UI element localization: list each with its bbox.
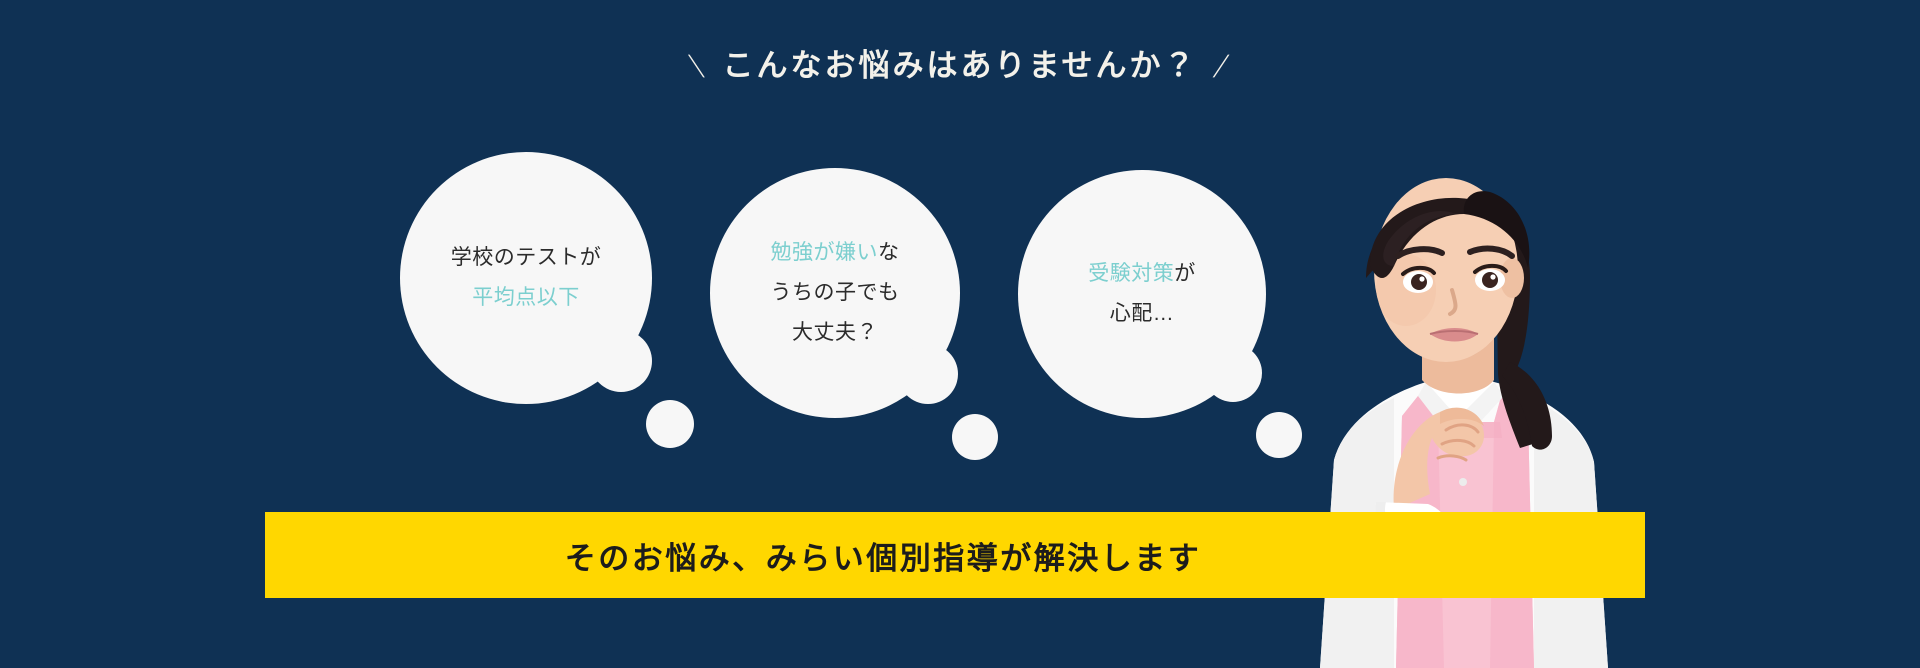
bubble-1-line-2-highlight: 平均点以下 [472, 286, 580, 309]
thought-bubble-3-tail-large [1204, 344, 1262, 402]
bubble-2-line-2: うちの子でも [771, 273, 900, 313]
thought-bubble-1-tail-small [646, 400, 694, 448]
thought-bubble-2-tail-large [898, 344, 958, 404]
solution-banner: そのお悩み、みらい個別指導が解決します [265, 512, 1645, 598]
thought-bubble-3-tail-small [1256, 412, 1302, 458]
hero-section: \こんなお悩みはありませんか？/ 学校のテストが 平均点以下 勉強が嫌いな うち… [0, 0, 1920, 668]
page-title: \こんなお悩みはありませんか？/ [0, 40, 1920, 86]
bubble-2-line-3: 大丈夫？ [792, 313, 878, 353]
bubble-1-line-1-plain: 学校のテストが [451, 246, 602, 269]
bubble-2-line-1-highlight: 勉強が嫌い [771, 241, 879, 264]
bubble-1-line-1: 学校のテストが [451, 238, 602, 278]
headline-slash-right: / [1209, 48, 1234, 86]
bubble-3-line-2: 心配… [1110, 294, 1175, 334]
bubble-2-line-3-plain: 大丈夫？ [792, 321, 878, 344]
bubble-3-line-1-plain: が [1174, 262, 1196, 285]
bubble-3-line-2-plain: 心配… [1110, 302, 1175, 325]
bubble-2-line-1: 勉強が嫌いな [771, 233, 900, 273]
solution-banner-text: そのお悩み、みらい個別指導が解決します [565, 533, 1202, 578]
bubble-2-line-1-plain: な [878, 241, 900, 264]
headline-text: こんなお悩みはありませんか？ [722, 48, 1197, 83]
bubble-3-line-1-highlight: 受験対策 [1088, 262, 1174, 285]
bubble-1-line-2: 平均点以下 [472, 278, 580, 318]
bubble-3-line-1: 受験対策が [1088, 254, 1196, 294]
headline-slash-left: \ [686, 48, 711, 86]
thought-bubble-2-tail-small [952, 414, 998, 460]
bubble-2-line-2-plain: うちの子でも [771, 281, 900, 304]
thought-bubble-1-tail-large [590, 330, 652, 392]
